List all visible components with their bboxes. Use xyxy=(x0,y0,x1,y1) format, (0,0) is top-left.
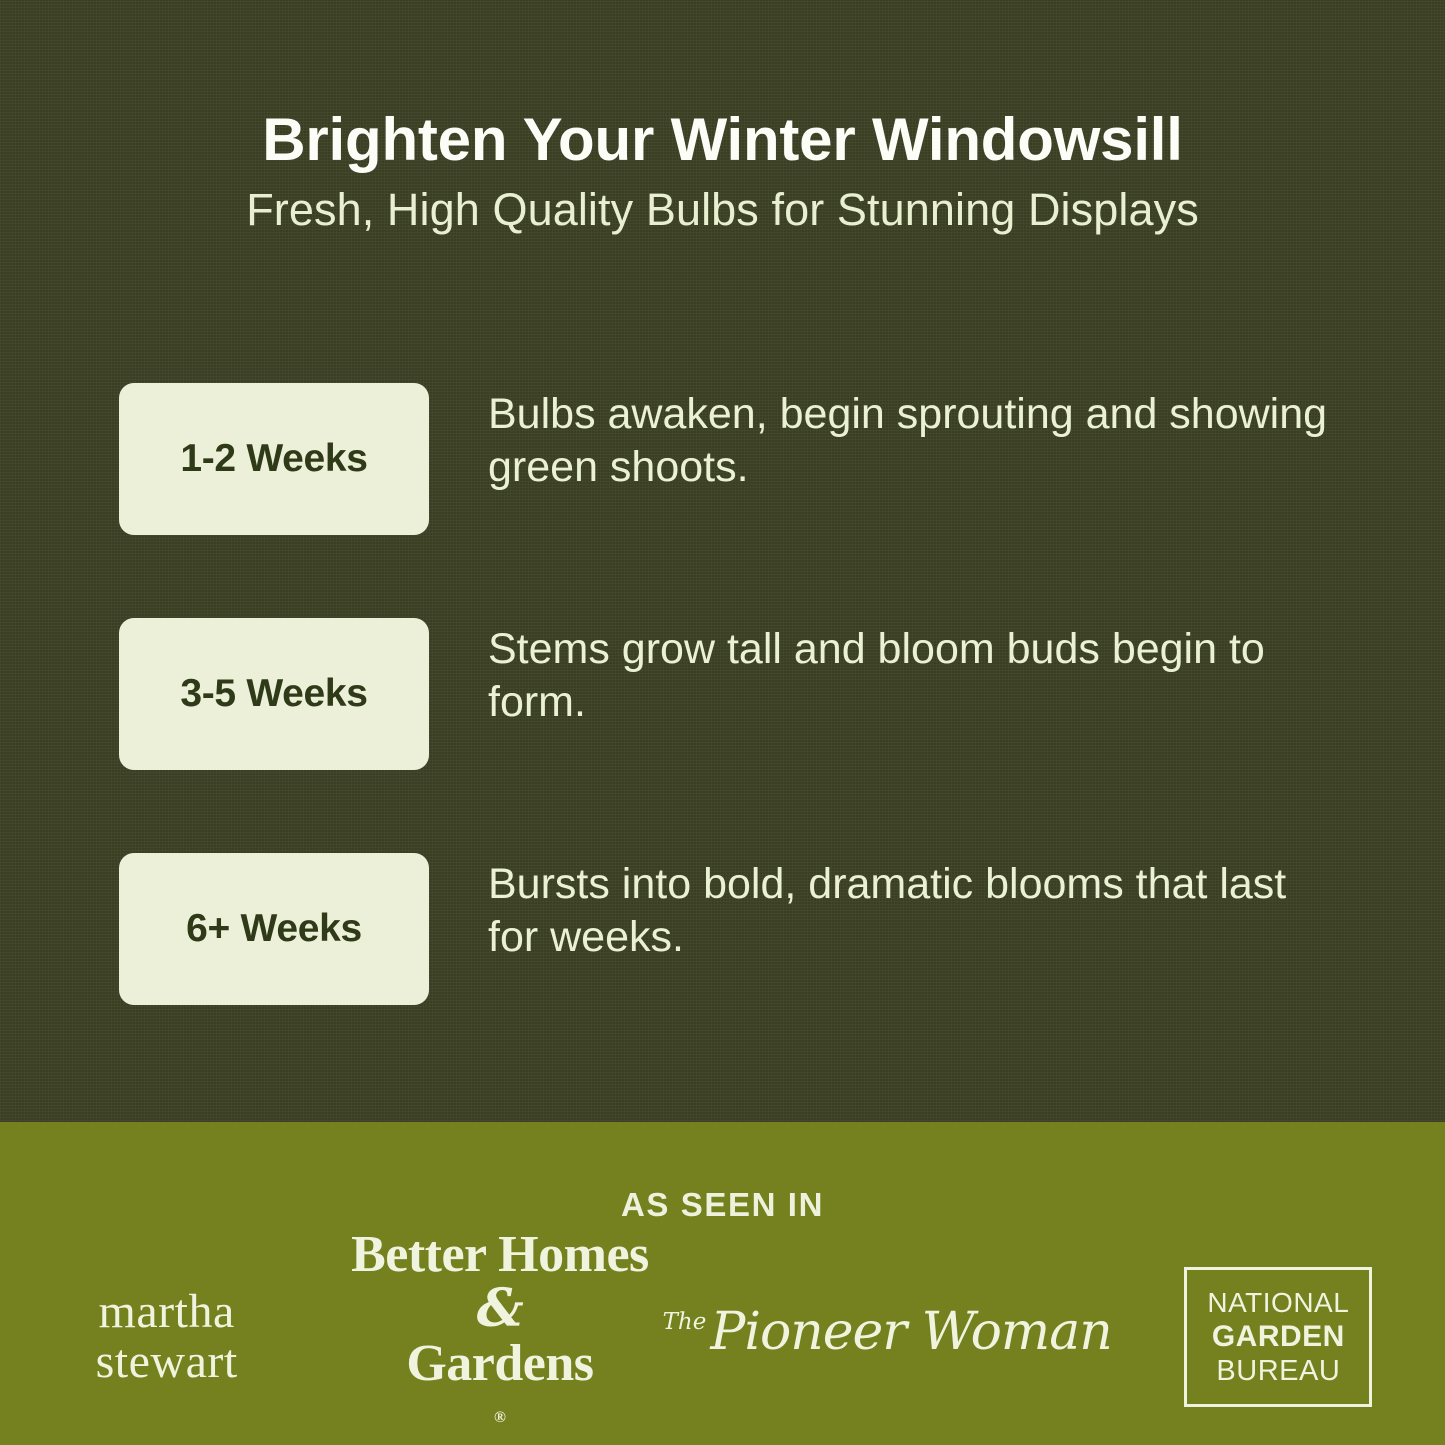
press-logo-row: martha stewart Better Homes &Gardens® Th… xyxy=(0,1262,1445,1412)
logo-the-pioneer-woman: ThePioneer Woman xyxy=(667,1262,1112,1412)
timeline-badge-2: 3-5 Weeks xyxy=(119,618,429,770)
timeline-row: 3-5 Weeks Stems grow tall and bloom buds… xyxy=(0,618,1445,770)
as-seen-in-band: AS SEEN IN martha stewart Better Homes &… xyxy=(0,1122,1445,1445)
as-seen-in-title: AS SEEN IN xyxy=(0,1186,1445,1224)
timeline-list: 1-2 Weeks Bulbs awaken, begin sprouting … xyxy=(0,383,1445,1005)
logo-ngb-line3: BUREAU xyxy=(1207,1354,1349,1388)
logo-ngb-line2: GARDEN xyxy=(1207,1320,1349,1354)
timeline-badge-1: 1-2 Weeks xyxy=(119,383,429,535)
logo-pioneer-main: Pioneer Woman xyxy=(710,1302,1111,1362)
logo-ngb-line1: NATIONAL xyxy=(1207,1286,1349,1320)
registered-trademark-icon: ® xyxy=(494,1409,506,1426)
logo-bhg-line2-wrap: &Gardens® xyxy=(351,1282,649,1445)
badge-label: 6+ Weeks xyxy=(186,907,362,951)
page-title: Brighten Your Winter Windowsill xyxy=(0,104,1445,176)
logo-martha-line1: martha xyxy=(96,1287,238,1337)
header-block: Brighten Your Winter Windowsill Fresh, H… xyxy=(0,104,1445,238)
logo-martha-line2: stewart xyxy=(96,1337,238,1387)
badge-label: 1-2 Weeks xyxy=(180,437,367,481)
timeline-description-3: Bursts into bold, dramatic blooms that l… xyxy=(488,858,1348,964)
timeline-row: 6+ Weeks Bursts into bold, dramatic bloo… xyxy=(0,853,1445,1005)
logo-better-homes-and-gardens: Better Homes &Gardens® xyxy=(333,1262,666,1412)
logo-national-garden-bureau: NATIONAL GARDEN BUREAU xyxy=(1112,1262,1445,1412)
timeline-badge-3: 6+ Weeks xyxy=(119,853,429,1005)
timeline-row: 1-2 Weeks Bulbs awaken, begin sprouting … xyxy=(0,383,1445,535)
badge-label: 3-5 Weeks xyxy=(180,672,367,716)
timeline-description-2: Stems grow tall and bloom buds begin to … xyxy=(488,623,1348,729)
logo-pioneer-the: The xyxy=(663,1309,707,1335)
page-subtitle: Fresh, High Quality Bulbs for Stunning D… xyxy=(0,182,1445,238)
timeline-description-1: Bulbs awaken, begin sprouting and showin… xyxy=(488,388,1348,494)
infographic-page: Brighten Your Winter Windowsill Fresh, H… xyxy=(0,0,1445,1445)
logo-martha-stewart: martha stewart xyxy=(0,1262,333,1412)
logo-bhg-line2: Gardens xyxy=(351,1337,649,1391)
logo-bhg-line1: Better Homes xyxy=(351,1228,649,1282)
ampersand-glyph: & xyxy=(477,1278,523,1339)
